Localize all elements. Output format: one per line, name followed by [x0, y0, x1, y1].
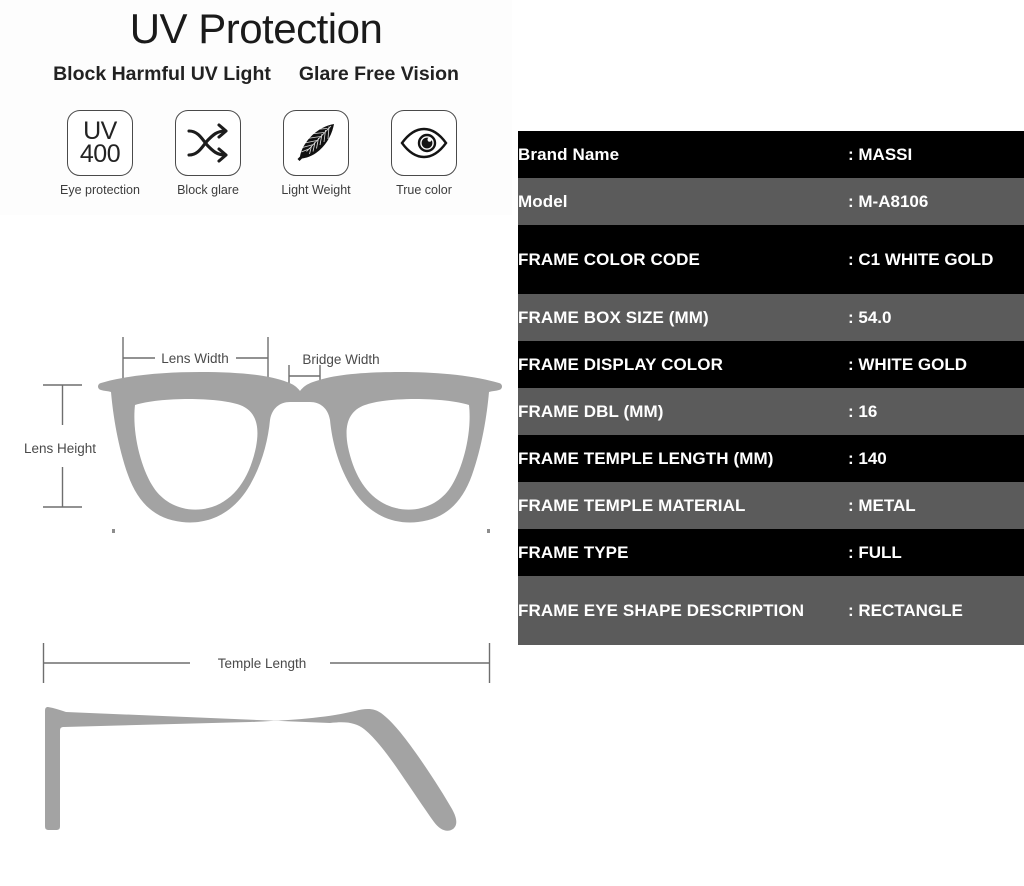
feature-label-eye-protection: Eye protection: [60, 183, 140, 197]
feather-icon: [283, 110, 349, 176]
benefit-heading-glare-free: Glare Free Vision: [299, 63, 459, 86]
spec-row-value: : MASSI: [848, 131, 1024, 178]
uv400-icon: UV 400: [67, 110, 133, 176]
frame-endpoint-dot-left: [112, 529, 115, 533]
frame-endpoint-dot-right: [487, 529, 490, 533]
feature-light-weight: Light Weight: [268, 110, 364, 197]
spec-row-value: : 54.0: [848, 294, 1024, 341]
spec-row-label: FRAME EYE SHAPE DESCRIPTION: [518, 576, 848, 645]
spec-row-label: FRAME DBL (MM): [518, 388, 848, 435]
feature-true-color: True color: [376, 110, 472, 197]
spec-row-label: Brand Name: [518, 131, 848, 178]
spec-row-value: : RECTANGLE: [848, 576, 1024, 645]
spec-row: FRAME TEMPLE LENGTH (MM): 140: [518, 435, 1024, 482]
eyeglasses-front-shape: [98, 372, 502, 522]
spec-row-value: : 16: [848, 388, 1024, 435]
spec-row: Brand Name: MASSI: [518, 131, 1024, 178]
spec-row-label: FRAME TYPE: [518, 529, 848, 576]
uv400-line-2: 400: [80, 143, 120, 166]
spec-row-value: : C1 WHITE GOLD: [848, 225, 1024, 294]
spec-row: Model: M-A8106: [518, 178, 1024, 225]
benefit-heading-block-uv: Block Harmful UV Light: [53, 63, 271, 86]
spec-row-label: Model: [518, 178, 848, 225]
spec-row: FRAME BOX SIZE (MM): 54.0: [518, 294, 1024, 341]
spec-row-label: FRAME TEMPLE LENGTH (MM): [518, 435, 848, 482]
spec-row: FRAME TEMPLE MATERIAL: METAL: [518, 482, 1024, 529]
uv-protection-banner: UV Protection Block Harmful UV Light Gla…: [0, 0, 512, 215]
spec-row-value: : FULL: [848, 529, 1024, 576]
frame-temple-measurement-diagram: Temple Length: [0, 635, 512, 845]
feature-label-light-weight: Light Weight: [281, 183, 350, 197]
spec-row: FRAME TYPE: FULL: [518, 529, 1024, 576]
eyeglasses-temple-shape: [45, 707, 456, 831]
feature-label-true-color: True color: [396, 183, 452, 197]
bridge-width-label: Bridge Width: [302, 352, 379, 367]
feature-icon-row: UV 400 Eye protection: [52, 110, 472, 197]
spec-table-body: Brand Name: MASSIModel: M-A8106FRAME COL…: [518, 131, 1024, 645]
spec-row-label: FRAME BOX SIZE (MM): [518, 294, 848, 341]
feature-eye-protection: UV 400 Eye protection: [52, 110, 148, 197]
product-specification-table: Brand Name: MASSIModel: M-A8106FRAME COL…: [518, 131, 1024, 645]
spec-row: FRAME DISPLAY COLOR: WHITE GOLD: [518, 341, 1024, 388]
spec-row-label: FRAME TEMPLE MATERIAL: [518, 482, 848, 529]
lens-height-label: Lens Height: [24, 441, 96, 456]
spec-row: FRAME EYE SHAPE DESCRIPTION: RECTANGLE: [518, 576, 1024, 645]
lens-width-label: Lens Width: [161, 351, 229, 366]
spec-row-label: FRAME DISPLAY COLOR: [518, 341, 848, 388]
uv-benefit-headings: Block Harmful UV Light Glare Free Vision: [0, 63, 512, 86]
spec-row: FRAME COLOR CODE: C1 WHITE GOLD: [518, 225, 1024, 294]
spec-row-label: FRAME COLOR CODE: [518, 225, 848, 294]
spec-row-value: : M-A8106: [848, 178, 1024, 225]
feature-block-glare: Block glare: [160, 110, 256, 197]
spec-row: FRAME DBL (MM): 16: [518, 388, 1024, 435]
eye-icon: [391, 110, 457, 176]
temple-length-label: Temple Length: [218, 656, 307, 671]
uv-protection-title: UV Protection: [0, 4, 512, 54]
spec-row-value: : WHITE GOLD: [848, 341, 1024, 388]
frame-front-measurement-diagram: Lens Width Bridge Width Lens Height: [0, 325, 512, 550]
cross-arrows-icon: [175, 110, 241, 176]
product-illustration-panel: UV Protection Block Harmful UV Light Gla…: [0, 0, 512, 886]
spec-row-value: : METAL: [848, 482, 1024, 529]
spec-row-value: : 140: [848, 435, 1024, 482]
feature-label-block-glare: Block glare: [177, 183, 239, 197]
